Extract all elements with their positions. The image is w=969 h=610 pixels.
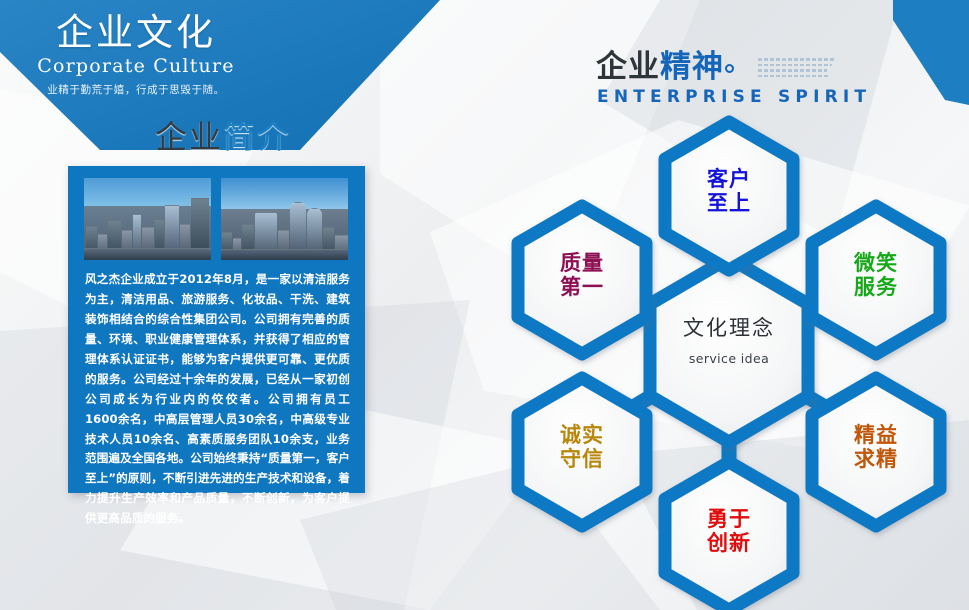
hex-node-lower-left [518,378,646,526]
company-intro-card: 风之杰企业成立于2012年8月，是一家以清洁服务为主，清洁用品、旅游服务、化妆品… [68,166,365,493]
hex-node-upper-right [812,206,940,354]
photo-strip [84,178,348,260]
intro-title-suffix: 简介 [223,118,291,156]
hex-node-upper-left [518,206,646,354]
decorative-text-lines [758,58,836,80]
culture-hexagon-diagram: 文化理念 service idea 客户 至上 微笑 服务 精益 求精 勇于 创… [490,110,969,610]
spirit-section-title: 企业精神 ENTERPRISE SPIRIT [596,52,871,107]
poster-root: 企业文化 Corporate Culture 业精于勤荒于嬉，行成于思毁于随。 … [0,0,969,610]
skyscrapers-photo [221,178,348,260]
registered-dot-icon [725,64,734,73]
header-text-group: 企业文化 Corporate Culture 业精于勤荒于嬉，行成于思毁于随。 [36,14,236,97]
hex-node-top [665,122,793,270]
hex-node-bottom [665,462,793,610]
hex-center [650,258,808,442]
intro-title-prefix: 企业 [155,118,223,156]
hex-node-lower-right [812,378,940,526]
company-intro-body: 风之杰企业成立于2012年8月，是一家以清洁服务为主，清洁用品、旅游服务、化妆品… [85,270,350,529]
spirit-title-en: ENTERPRISE SPIRIT [597,87,871,107]
spirit-title-prefix: 企业 [596,49,660,85]
header-tagline: 业精于勤荒于嬉，行成于思毁于随。 [36,82,236,97]
city-skyline-photo [84,178,211,260]
header-title-en: Corporate Culture [36,55,236,77]
header-title-cn: 企业文化 [36,14,236,53]
intro-section-title: 企业简介 [155,112,291,158]
spirit-title-suffix: 精神 [660,49,724,85]
